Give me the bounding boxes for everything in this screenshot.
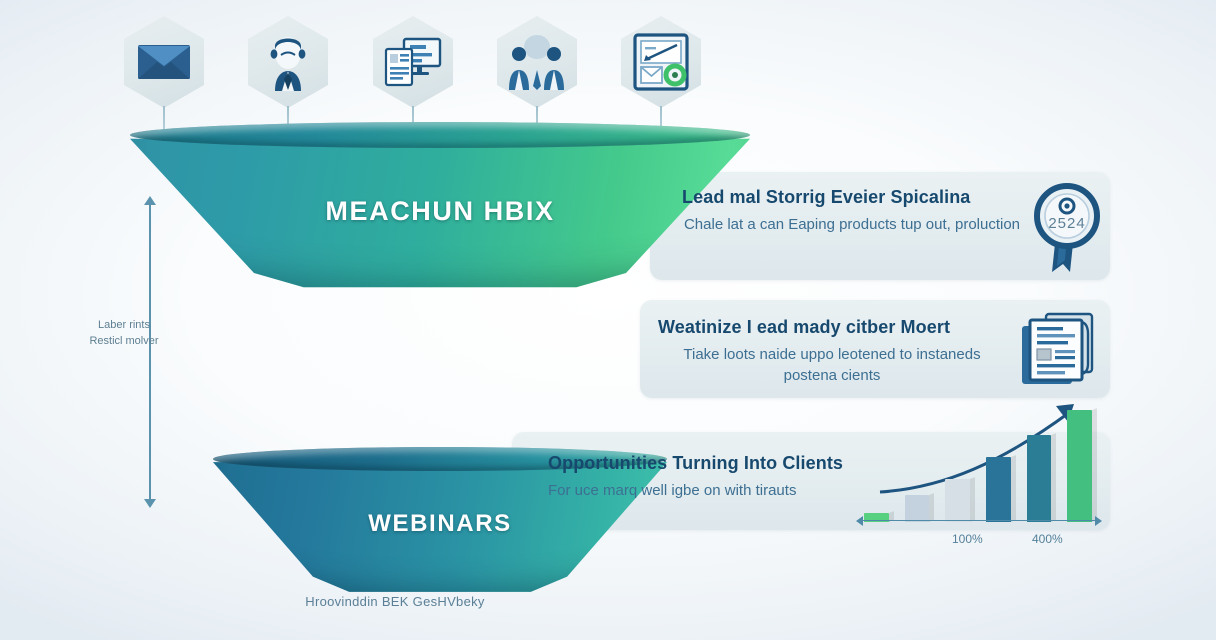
monitor-document-icon bbox=[383, 30, 443, 94]
row-3-text: Opportunities Turning Into Clients For u… bbox=[548, 452, 894, 501]
support-agent-icon bbox=[258, 30, 318, 94]
funnel-tier-1[interactable]: MEACHUN HBIX bbox=[130, 134, 750, 292]
chart-axis bbox=[856, 516, 1102, 526]
badge-value: 2524 bbox=[1048, 215, 1085, 232]
funnel-tier-1-body bbox=[130, 134, 750, 292]
team-people-icon bbox=[507, 30, 567, 94]
dashboard-analytics-icon bbox=[631, 30, 691, 94]
row-1-text: Lead mal Storrig Eveier Spicalina Chale … bbox=[682, 186, 1022, 235]
row-2-text: Weatinize I ead mady citber Moert Tiake … bbox=[658, 316, 1006, 387]
row-3-subtitle: For uce marq well igbe on with tirauts bbox=[548, 480, 894, 502]
conversion-funnel: MEACHUN HBIX WEBINARS FACIRS bbox=[130, 134, 750, 594]
chart-bars bbox=[864, 410, 1092, 522]
documents-icon bbox=[1018, 312, 1100, 388]
funnel-tier-1-rim bbox=[130, 122, 750, 148]
chart-bar bbox=[986, 457, 1011, 522]
icon-node-dashboard-analytics[interactable] bbox=[615, 14, 707, 136]
row-1-title: Lead mal Storrig Eveier Spicalina bbox=[682, 186, 1022, 209]
row-3-title: Opportunities Turning Into Clients bbox=[548, 452, 894, 475]
icon-node-monitor-document[interactable] bbox=[367, 14, 459, 136]
chart-axis-line bbox=[862, 520, 1096, 521]
row-1-subtitle: Chale lat a can Eaping products tup out,… bbox=[682, 214, 1022, 236]
icon-node-team-people[interactable] bbox=[491, 14, 583, 136]
bar-chart: 100% 400% bbox=[856, 398, 1106, 548]
chart-tick-100: 100% bbox=[952, 532, 983, 546]
bottom-caption: Hroovinddin BEK GesHVbeky bbox=[0, 594, 790, 609]
chart-axis-arrow-right-icon bbox=[1095, 516, 1102, 526]
row-2-subtitle: Tiake loots naide uppo leotened to insta… bbox=[658, 344, 1006, 388]
icon-node-support-agent[interactable] bbox=[242, 14, 334, 136]
envelope-icon bbox=[134, 30, 194, 94]
top-icon-row bbox=[118, 14, 708, 136]
chart-bar bbox=[1067, 410, 1092, 522]
chart-tick-400: 400% bbox=[1032, 532, 1063, 546]
icon-node-envelope[interactable] bbox=[118, 14, 210, 136]
award-ribbon-icon: 2524 bbox=[1030, 176, 1104, 274]
chart-bar bbox=[1027, 435, 1052, 522]
row-2-title: Weatinize I ead mady citber Moert bbox=[658, 316, 1006, 339]
